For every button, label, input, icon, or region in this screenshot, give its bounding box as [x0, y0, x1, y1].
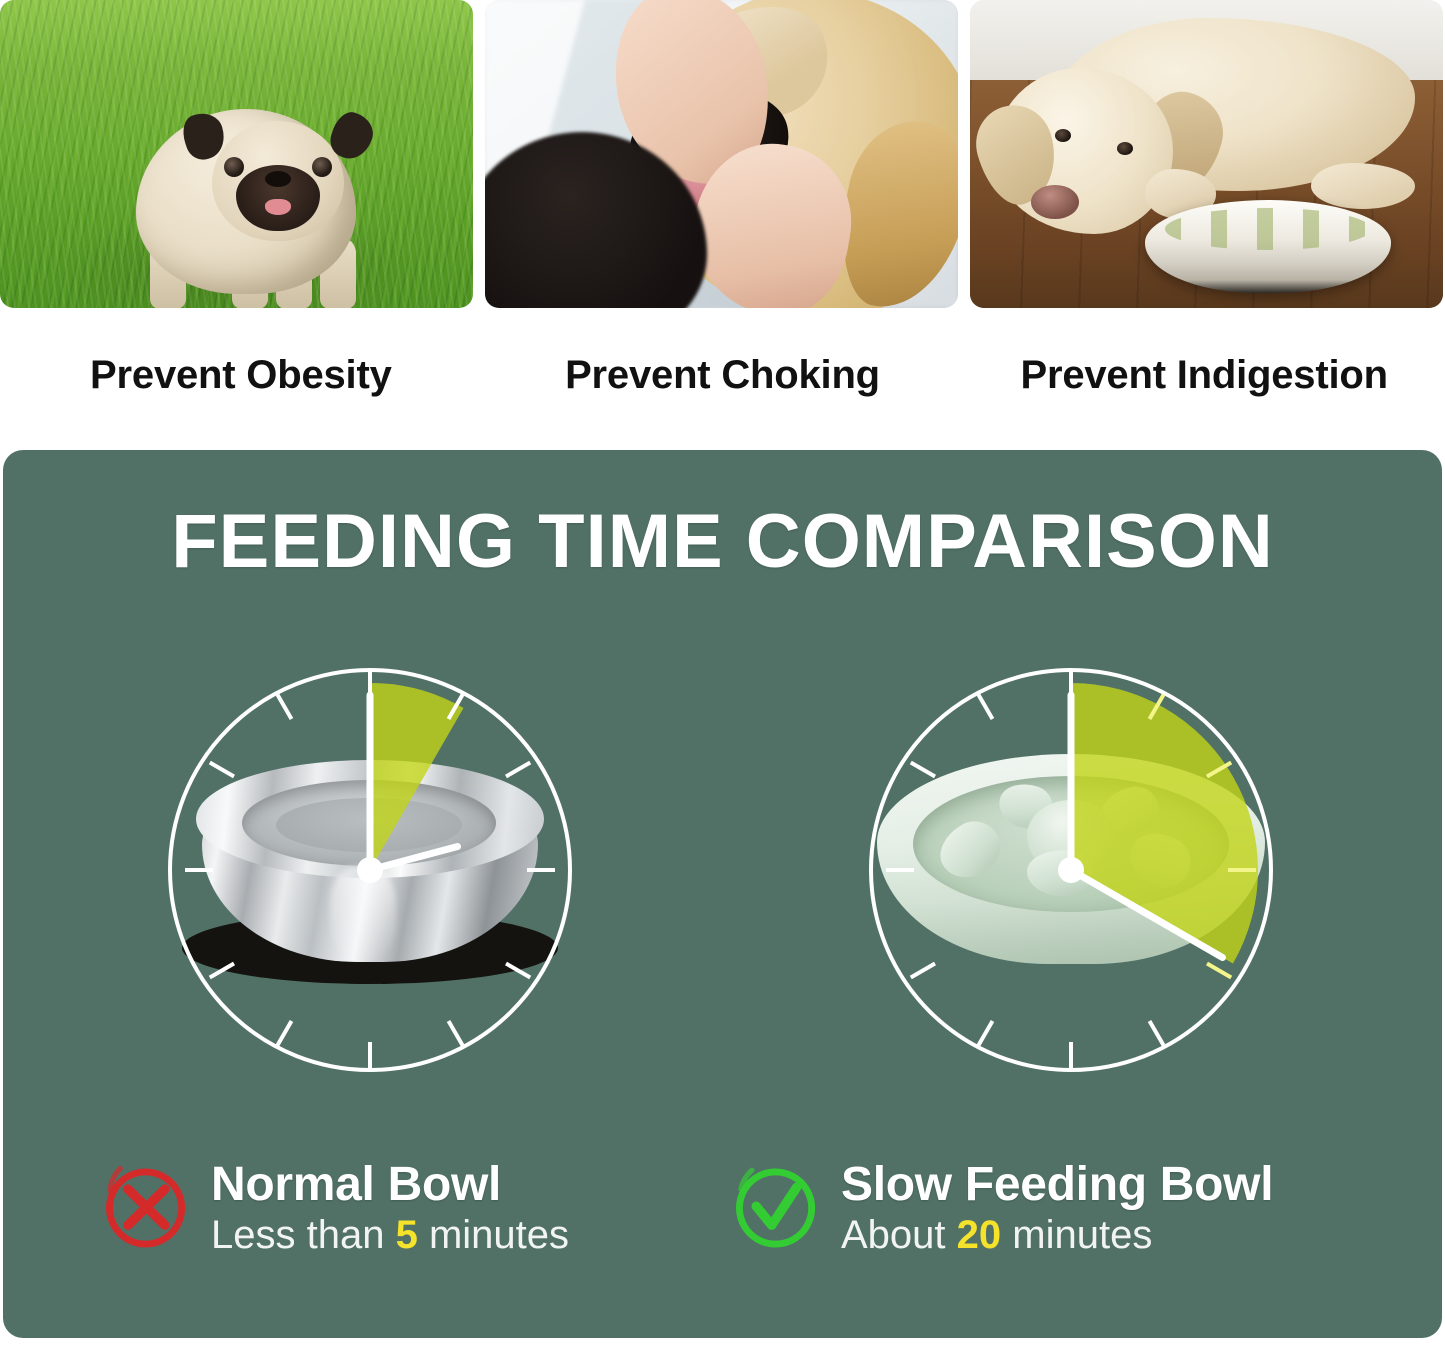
panel-title: FEEDING TIME COMPARISON — [3, 498, 1442, 585]
clock-normal-bowl — [155, 655, 585, 1085]
legend-sub-suffix: minutes — [1001, 1213, 1152, 1257]
x-mark-icon — [103, 1165, 189, 1251]
legend-title-slow-feeding-bowl: Slow Feeding Bowl — [841, 1160, 1273, 1209]
feature-photo-row — [0, 0, 1445, 312]
caption-prevent-obesity: Prevent Obesity — [0, 330, 482, 420]
pug-tongue — [265, 199, 291, 215]
legend-sub-suffix: minutes — [418, 1213, 569, 1257]
pug-muzzle — [236, 165, 320, 231]
feature-caption-row: Prevent Obesity Prevent Choking Prevent … — [0, 330, 1445, 420]
pug-nose — [265, 171, 291, 187]
clock-comparison-row — [3, 655, 1442, 1105]
check-mark-icon — [733, 1165, 819, 1251]
clock-slow-feeding-bowl — [856, 655, 1286, 1085]
caption-prevent-indigestion: Prevent Indigestion — [963, 330, 1445, 420]
photo-fat-pug-on-grass — [0, 0, 473, 308]
labrador-paw — [1311, 163, 1415, 209]
photo-hand-checking-dog-mouth — [485, 0, 958, 308]
pug-eye — [224, 157, 244, 177]
legend-subtitle-slow-feeding-bowl: About 20 minutes — [841, 1215, 1273, 1256]
labrador-nose — [1031, 185, 1078, 219]
feeding-time-comparison-panel: FEEDING TIME COMPARISON — [3, 450, 1442, 1338]
caption-prevent-choking: Prevent Choking — [482, 330, 964, 420]
legend-subtitle-normal-bowl: Less than 5 minutes — [211, 1215, 569, 1256]
legend-row: Normal Bowl Less than 5 minutes Slow Fee… — [3, 1160, 1442, 1280]
slow-feeder-bowl-photo — [1145, 200, 1391, 292]
bowl-inner-base — [276, 798, 462, 852]
legend-sub-prefix: Less than — [211, 1213, 396, 1257]
labrador-eye — [1117, 142, 1133, 155]
legend-normal-bowl: Normal Bowl Less than 5 minutes — [103, 1160, 569, 1257]
pug-head — [212, 121, 344, 241]
bowl-highlight — [330, 866, 396, 962]
legend-minutes-value: 20 — [957, 1213, 1002, 1257]
legend-sub-prefix: About — [841, 1213, 957, 1257]
legend-slow-feeding-bowl: Slow Feeding Bowl About 20 minutes — [733, 1160, 1273, 1257]
legend-minutes-value: 5 — [396, 1213, 418, 1257]
pug-eye — [312, 157, 332, 177]
photo-labrador-lying-by-bowl — [970, 0, 1443, 308]
legend-title-normal-bowl: Normal Bowl — [211, 1160, 569, 1209]
slow-feeder-bowl — [871, 740, 1271, 1000]
stainless-steel-bowl — [170, 740, 570, 1000]
